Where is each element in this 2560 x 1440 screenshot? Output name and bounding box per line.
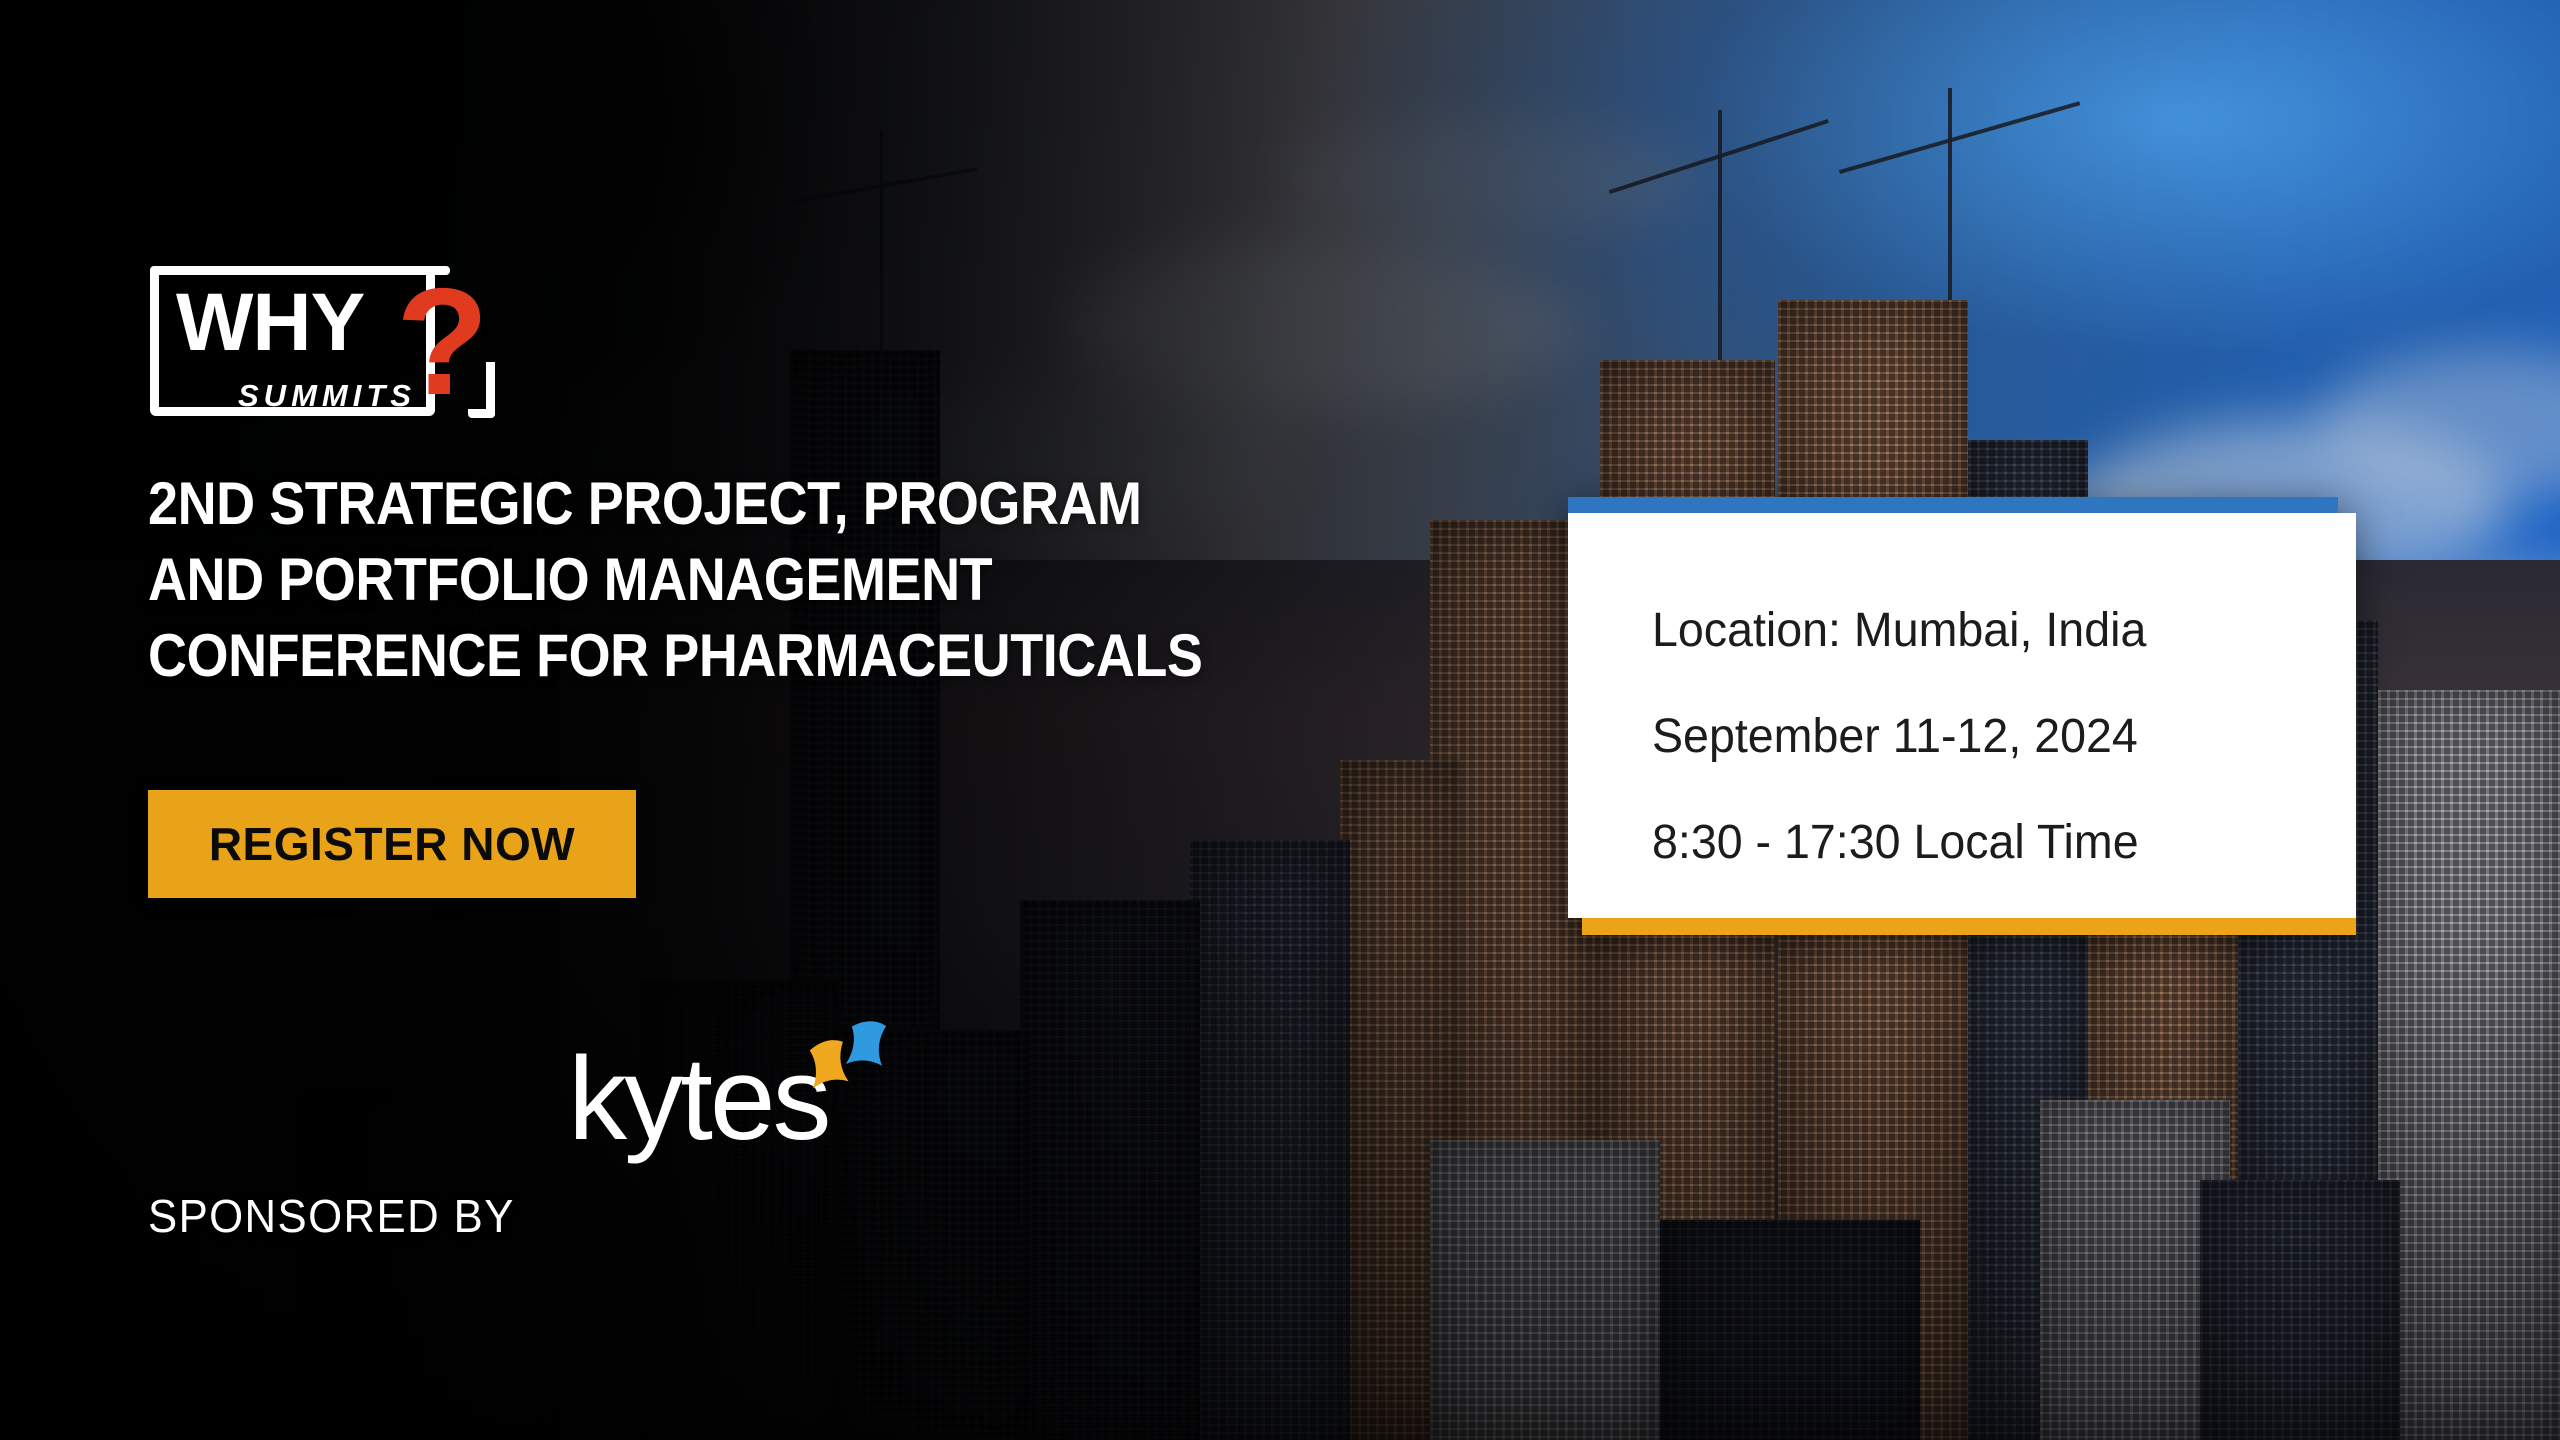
headline-line-2: AND PORTFOLIO MANAGEMENT [148, 542, 1318, 618]
event-banner: WHY ? SUMMITS 2ND STRATEGIC PROJECT, PRO… [0, 0, 2560, 1440]
card-bottom-accent-bar [1582, 918, 2356, 935]
event-time: 8:30 - 17:30 Local Time [1652, 819, 2296, 867]
register-now-button[interactable]: REGISTER NOW [148, 790, 636, 898]
kite-blue-icon [837, 1013, 895, 1076]
why-summits-logo[interactable]: WHY ? SUMMITS [150, 258, 460, 428]
kytes-wordmark: kytes [568, 1040, 828, 1158]
event-location: Location: Mumbai, India [1652, 607, 2296, 655]
logo-subtitle: SUMMITS [238, 380, 416, 411]
headline-line-3: CONFERENCE FOR PHARMACEUTICALS [148, 618, 1318, 694]
kytes-logo[interactable]: kytes [568, 1112, 888, 1232]
card-text-block: Location: Mumbai, India September 11-12,… [1652, 607, 2316, 867]
event-dates: September 11-12, 2024 [1652, 713, 2296, 761]
headline-line-1: 2ND STRATEGIC PROJECT, PROGRAM [148, 466, 1318, 542]
sponsor-row: SPONSORED BY kytes [148, 1112, 888, 1243]
event-details-card: Location: Mumbai, India September 11-12,… [1568, 497, 2356, 935]
page-title: 2ND STRATEGIC PROJECT, PROGRAM AND PORTF… [148, 466, 1318, 694]
register-now-label: REGISTER NOW [209, 817, 575, 871]
card-top-accent-bar [1568, 497, 2338, 513]
logo-word: WHY [176, 282, 364, 364]
sponsored-by-label: SPONSORED BY [148, 1189, 515, 1243]
